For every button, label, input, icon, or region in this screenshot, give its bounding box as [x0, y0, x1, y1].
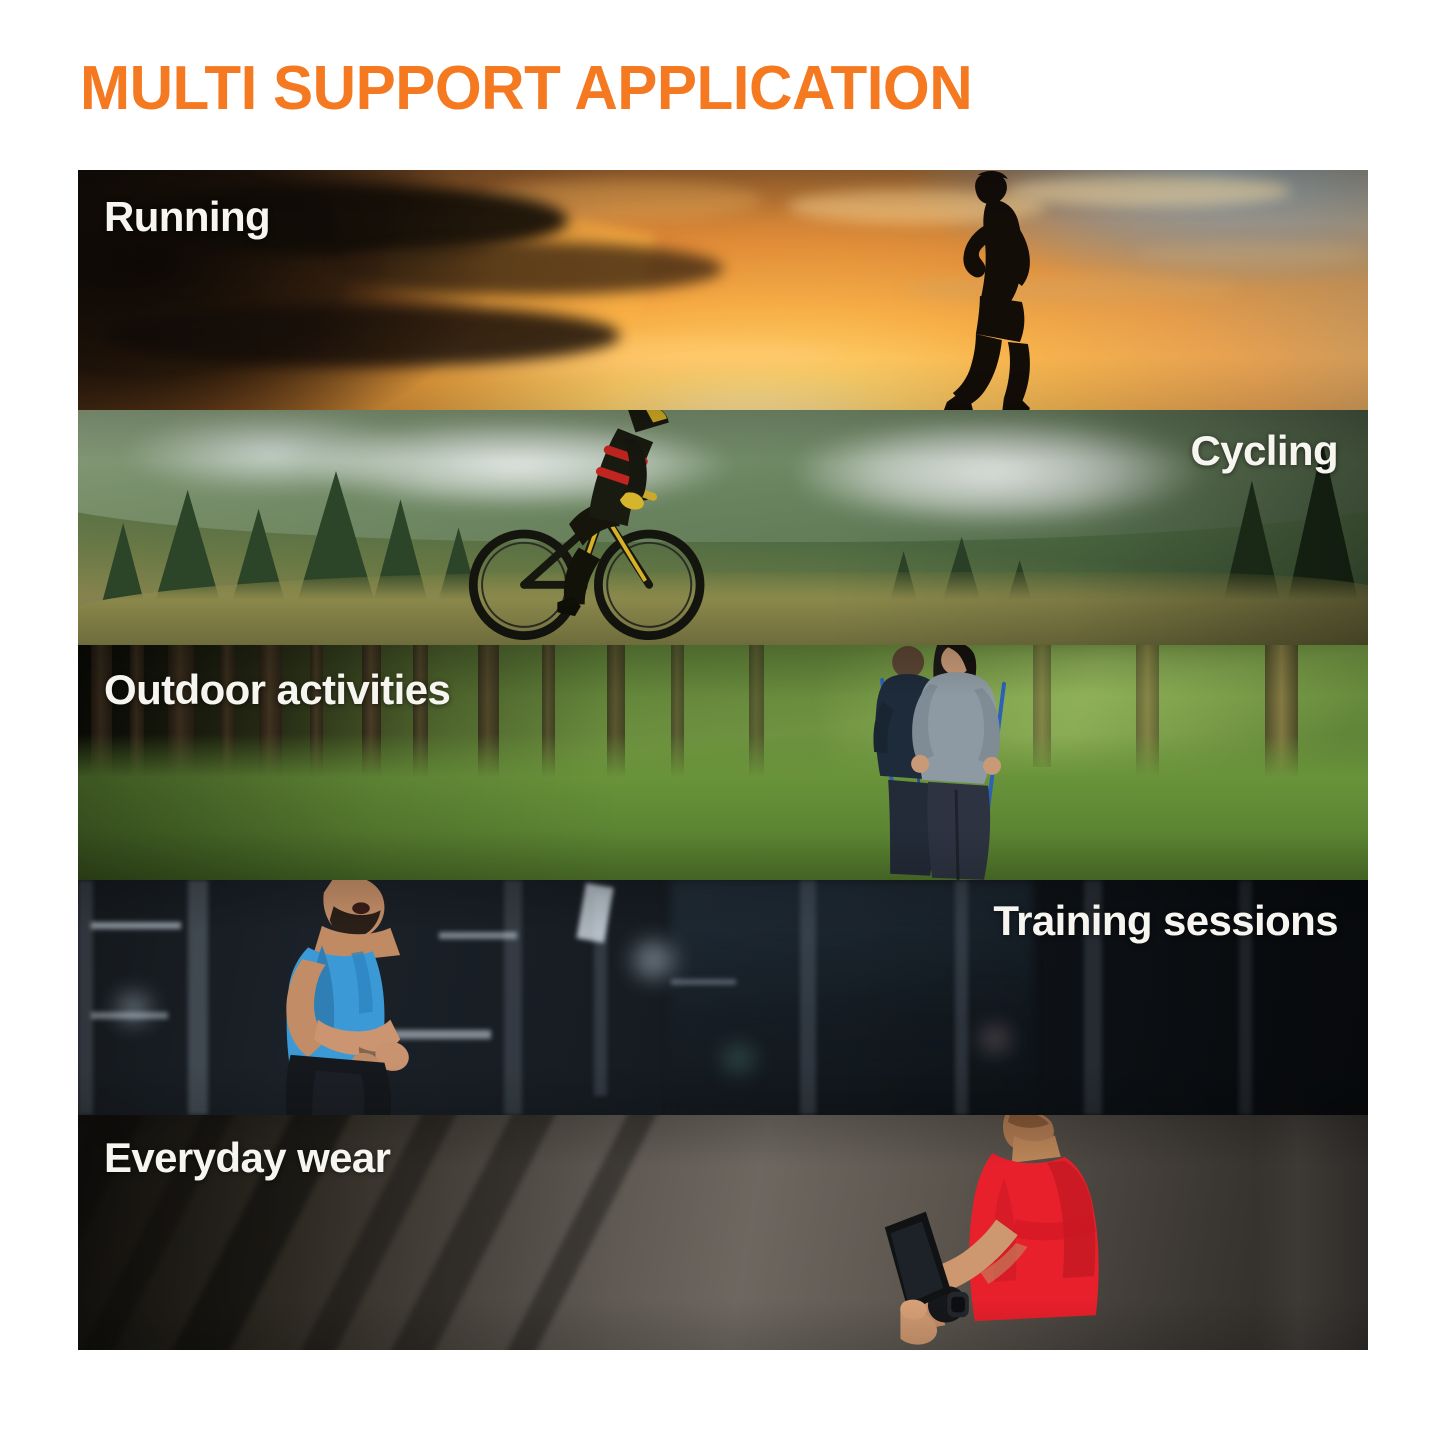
- mountain-biker-icon: [426, 410, 736, 645]
- person-red-shirt-icon: [800, 1115, 1290, 1350]
- ceiling-light-tube: [576, 883, 614, 943]
- mist-cloud: [800, 419, 1239, 537]
- gym-frame: [955, 880, 968, 1115]
- tall-grass: [78, 734, 1368, 880]
- bokeh-light: [723, 1045, 754, 1073]
- band-label-everyday-wear: Everyday wear: [104, 1137, 390, 1179]
- feature-band-outdoor[interactable]: Outdoor activities: [78, 645, 1368, 880]
- running-scene-image: [78, 170, 1368, 410]
- cloud: [336, 242, 723, 295]
- marketing-page: MULTI SUPPORT APPLICATION: [0, 0, 1445, 1445]
- gym-mirror-panel: [671, 880, 1032, 1115]
- feature-band-cycling[interactable]: Cycling: [78, 410, 1368, 645]
- cycling-scene-image: [78, 410, 1368, 645]
- band-label-outdoor-activities: Outdoor activities: [104, 669, 450, 711]
- bokeh-light: [981, 1026, 1009, 1052]
- cloud: [1136, 242, 1368, 266]
- feature-band-running[interactable]: Running: [78, 170, 1368, 410]
- light-strip: [91, 922, 181, 929]
- feature-band-training[interactable]: Training sessions: [78, 880, 1368, 1115]
- gym-athlete-icon: [207, 880, 542, 1115]
- bokeh-light: [117, 993, 151, 1024]
- gym-frame: [188, 880, 209, 1115]
- band-label-running: Running: [104, 196, 270, 238]
- page-title: MULTI SUPPORT APPLICATION: [80, 58, 972, 120]
- runner-silhouette-icon: [852, 170, 1136, 410]
- hikers-icon: [826, 645, 1058, 880]
- light-strip: [671, 979, 736, 985]
- band-label-training-sessions: Training sessions: [993, 900, 1338, 942]
- feature-band-everyday[interactable]: Everyday wear: [78, 1115, 1368, 1350]
- bokeh-light: [633, 941, 674, 979]
- band-label-cycling: Cycling: [1191, 430, 1339, 472]
- cloud: [104, 304, 620, 366]
- feature-band-stack: Running: [78, 170, 1368, 1350]
- gym-frame: [78, 880, 93, 1115]
- gym-frame: [800, 880, 815, 1115]
